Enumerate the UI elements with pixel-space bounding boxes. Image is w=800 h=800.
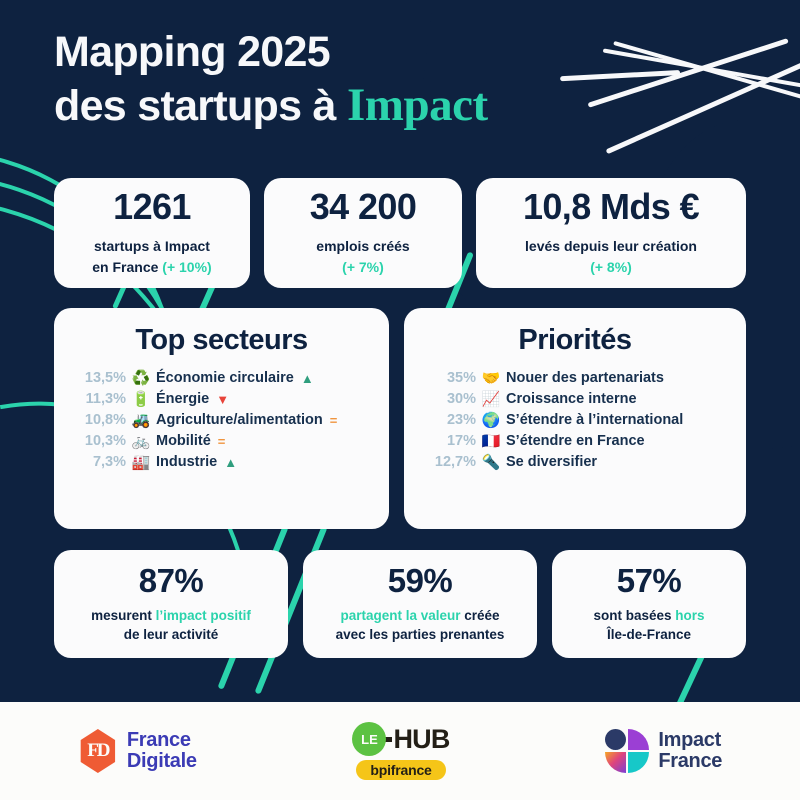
stat-card-leves: 10,8 Mds € levés depuis leur création (+… [476, 178, 746, 288]
panel-title: Top secteurs [68, 324, 375, 357]
percent-caption-line-2: avec les parties prenantes [336, 627, 505, 642]
impact-france-wordmark: Impact France [658, 730, 722, 773]
title-line-2-prefix: des startups à [54, 82, 347, 130]
sector-row: 10,3% 🚲 Mobilité = [68, 434, 375, 449]
sector-label: Énergie [156, 392, 209, 407]
footer-logo-bar: FD France Digitale LE HUB bpifrance [0, 702, 800, 800]
priority-percent: 17% [418, 434, 476, 449]
stat-card-startups: 1261 startups à Impact en France (+ 10%) [54, 178, 250, 288]
stat-delta: (+ 8%) [590, 259, 632, 275]
bicycle-icon: 🚲 [126, 434, 156, 449]
sector-row: 13,5% ♻️ Économie circulaire ▲ [68, 371, 375, 386]
stat-caption-line-1: emplois créés [316, 238, 409, 254]
priority-percent: 12,7% [418, 455, 476, 470]
priority-label: S’étendre en France [506, 434, 645, 449]
tractor-icon: 🚜 [126, 413, 156, 428]
stat-caption-line-2: en France [92, 259, 162, 275]
sector-percent: 7,3% [68, 455, 126, 470]
percent-number: 57% [617, 564, 682, 597]
sector-row: 11,3% 🔋 Énergie ▼ [68, 392, 375, 407]
impact-france-purple-quarter [628, 729, 649, 750]
le-hub-word: HUB [393, 724, 449, 755]
impact-france-circle-shape [605, 729, 626, 750]
priority-row: 35% 🤝 Nouer des partenariats [418, 371, 732, 386]
priority-row: 30% 📈 Croissance interne [418, 392, 732, 407]
percent-caption-post: créée [461, 608, 500, 623]
priority-percent: 30% [418, 392, 476, 407]
globe-icon: 🌍 [476, 413, 506, 428]
sector-percent: 13,5% [68, 371, 126, 386]
stat-delta: (+ 7%) [342, 259, 384, 275]
stat-card-emplois: 34 200 emplois créés (+ 7%) [264, 178, 462, 288]
stat-caption: emplois créés (+ 7%) [306, 236, 419, 277]
sector-label: Industrie [156, 455, 217, 470]
percent-caption-pre: mesurent [91, 608, 156, 623]
stat-number: 34 200 [310, 189, 417, 225]
france-digitale-line-1: France [127, 729, 191, 751]
sector-label: Agriculture/alimentation [156, 413, 323, 428]
impact-france-gradient-quarter [605, 752, 626, 773]
france-digitale-monogram: FD [87, 740, 108, 762]
sector-row: 10,8% 🚜 Agriculture/alimentation = [68, 413, 375, 428]
france-flag-icon: 🇫🇷 [476, 434, 506, 449]
sector-label: Économie circulaire [156, 371, 294, 386]
percent-caption: mesurent l’impact positif de leur activi… [83, 607, 259, 645]
battery-icon: 🔋 [126, 392, 156, 407]
panel-priorites: Priorités 35% 🤝 Nouer des partenariats 3… [404, 308, 746, 529]
percent-caption-line-2: de leur activité [124, 627, 219, 642]
sector-percent: 11,3% [68, 392, 126, 407]
sector-label: Mobilité [156, 434, 211, 449]
trend-flat-icon: = [330, 414, 338, 427]
france-digitale-hexagon-icon: FD [78, 729, 118, 773]
stat-caption-line-1: startups à Impact [94, 238, 210, 254]
percent-card-impact-positif: 87% mesurent l’impact positif de leur ac… [54, 550, 288, 658]
le-hub-wordmark: LE HUB [352, 722, 449, 756]
percent-caption-highlight: partagent la valeur [340, 608, 460, 623]
priority-row: 12,7% 🔦 Se diversifier [418, 455, 732, 470]
sector-percent: 10,8% [68, 413, 126, 428]
logo-le-hub-bpifrance[interactable]: LE HUB bpifrance [352, 722, 449, 780]
trend-flat-icon: = [218, 435, 226, 448]
title-line-2: des startups à Impact [54, 78, 674, 133]
trend-up-icon: ▲ [224, 456, 237, 469]
percent-caption-highlight: l’impact positif [156, 608, 251, 623]
title-impact-highlight: Impact [347, 79, 488, 131]
logo-impact-france[interactable]: Impact France [605, 729, 722, 773]
percent-caption-line-2: Île-de-France [607, 627, 691, 642]
sector-row: 7,3% 🏭 Industrie ▲ [68, 455, 375, 470]
factory-icon: 🏭 [126, 455, 156, 470]
poster-title: Mapping 2025 des startups à Impact [54, 28, 674, 132]
trend-down-icon: ▼ [216, 393, 229, 406]
panel-title: Priorités [418, 324, 732, 357]
sector-row-list: 13,5% ♻️ Économie circulaire ▲ 11,3% 🔋 É… [68, 371, 375, 470]
priority-percent: 35% [418, 371, 476, 386]
priority-row-list: 35% 🤝 Nouer des partenariats 30% 📈 Crois… [418, 371, 732, 470]
france-digitale-wordmark: France Digitale [127, 730, 197, 773]
percent-card-partage-valeur: 59% partagent la valeur créée avec les p… [303, 550, 537, 658]
priority-label: Se diversifier [506, 455, 597, 470]
percent-caption: partagent la valeur créée avec les parti… [328, 607, 513, 645]
chart-increasing-icon: 📈 [476, 392, 506, 407]
handshake-icon: 🤝 [476, 371, 506, 386]
priority-percent: 23% [418, 413, 476, 428]
stat-caption: startups à Impact en France (+ 10%) [82, 236, 221, 277]
stat-delta: (+ 10%) [162, 259, 211, 275]
priority-label: Croissance interne [506, 392, 637, 407]
stat-number: 10,8 Mds € [523, 189, 699, 225]
priority-row: 23% 🌍 S’étendre à l’international [418, 413, 732, 428]
percent-number: 87% [139, 564, 204, 597]
percent-number: 59% [388, 564, 453, 597]
trend-up-icon: ▲ [301, 372, 314, 385]
priority-label: S’étendre à l’international [506, 413, 683, 428]
impact-france-line-1: Impact [658, 729, 721, 751]
bpifrance-pill: bpifrance [356, 760, 445, 780]
recycle-icon: ♻️ [126, 371, 156, 386]
sector-percent: 10,3% [68, 434, 126, 449]
stat-number: 1261 [113, 189, 191, 225]
percent-caption-highlight: hors [675, 608, 704, 623]
impact-france-mark-icon [605, 729, 649, 773]
stat-caption: levés depuis leur création (+ 8%) [515, 236, 707, 277]
panel-top-secteurs: Top secteurs 13,5% ♻️ Économie circulair… [54, 308, 389, 529]
percent-caption-pre: sont basées [593, 608, 675, 623]
priority-row: 17% 🇫🇷 S’étendre en France [418, 434, 732, 449]
logo-france-digitale[interactable]: FD France Digitale [78, 729, 197, 773]
percent-caption: sont basées hors Île-de-France [585, 607, 712, 645]
priority-label: Nouer des partenariats [506, 371, 664, 386]
title-line-1: Mapping 2025 [54, 28, 674, 78]
impact-france-line-2: France [658, 750, 722, 772]
impact-france-teal-quarter [628, 752, 649, 773]
stat-caption-line-1: levés depuis leur création [525, 238, 697, 254]
flashlight-icon: 🔦 [476, 455, 506, 470]
percent-card-hors-idf: 57% sont basées hors Île-de-France [552, 550, 746, 658]
le-hub-circle-icon: LE [352, 722, 386, 756]
france-digitale-line-2: Digitale [127, 750, 197, 772]
infographic-poster: Mapping 2025 des startups à Impact 1261 … [0, 0, 800, 800]
